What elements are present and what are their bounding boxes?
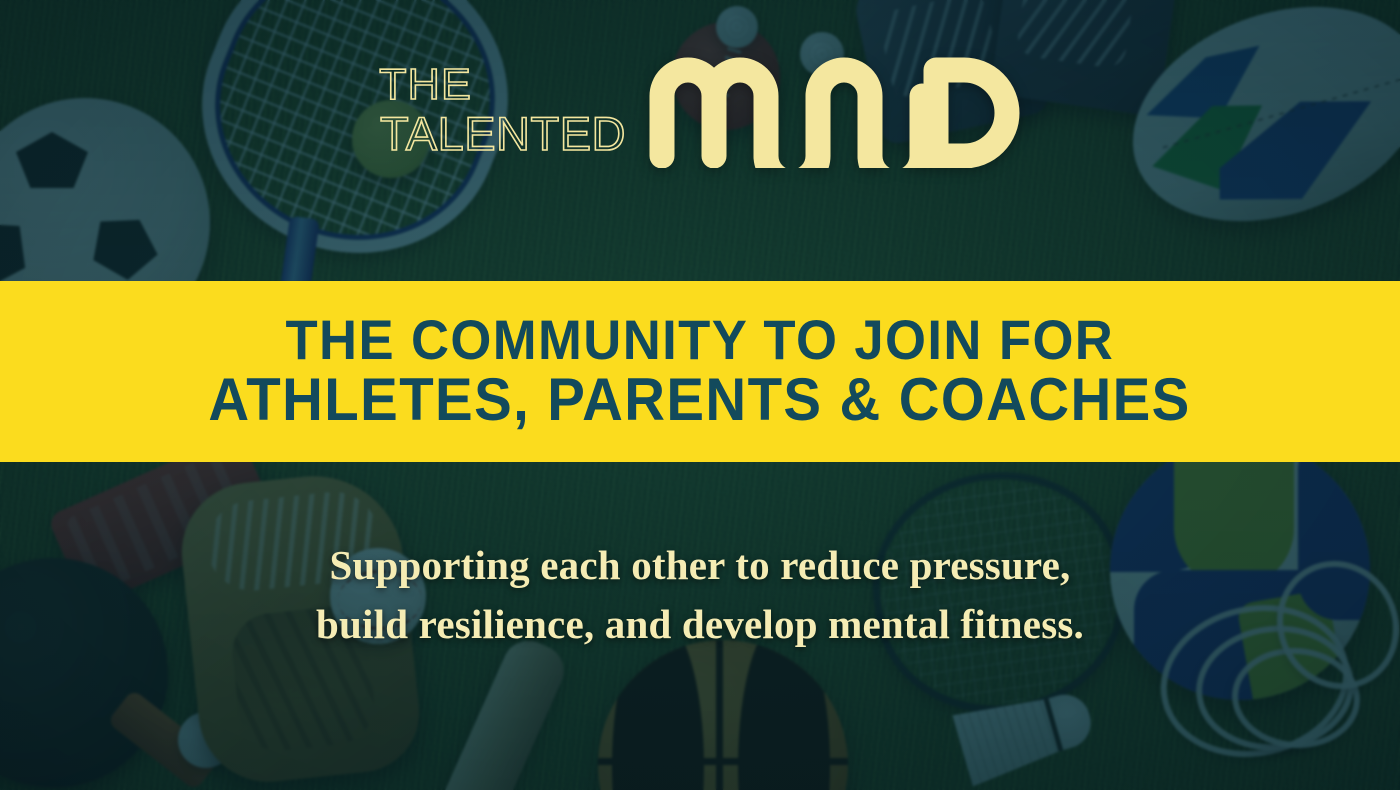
logo-line-the: THE xyxy=(379,64,472,105)
logo-wordtext: THE TALENTED xyxy=(380,64,626,156)
subtitle: Supporting each other to reduce pressure… xyxy=(0,536,1400,655)
mind-wordmark-icon xyxy=(648,52,1020,168)
logo-line-talented: TALENTED xyxy=(380,112,626,156)
brand-logo: THE TALENTED xyxy=(0,52,1400,168)
subtitle-line-1: Supporting each other to reduce pressure… xyxy=(0,536,1400,595)
subtitle-line-2: build resilience, and develop mental fit… xyxy=(0,595,1400,654)
headline-line-1: THE COMMUNITY TO JOIN FOR xyxy=(286,311,1115,369)
promo-banner: THE TALENTED THE COMMUNITY TO JOIN F xyxy=(0,0,1400,790)
headline-line-2: ATHLETES, PARENTS & COACHES xyxy=(209,369,1191,431)
headline-band: THE COMMUNITY TO JOIN FOR ATHLETES, PARE… xyxy=(0,281,1400,462)
